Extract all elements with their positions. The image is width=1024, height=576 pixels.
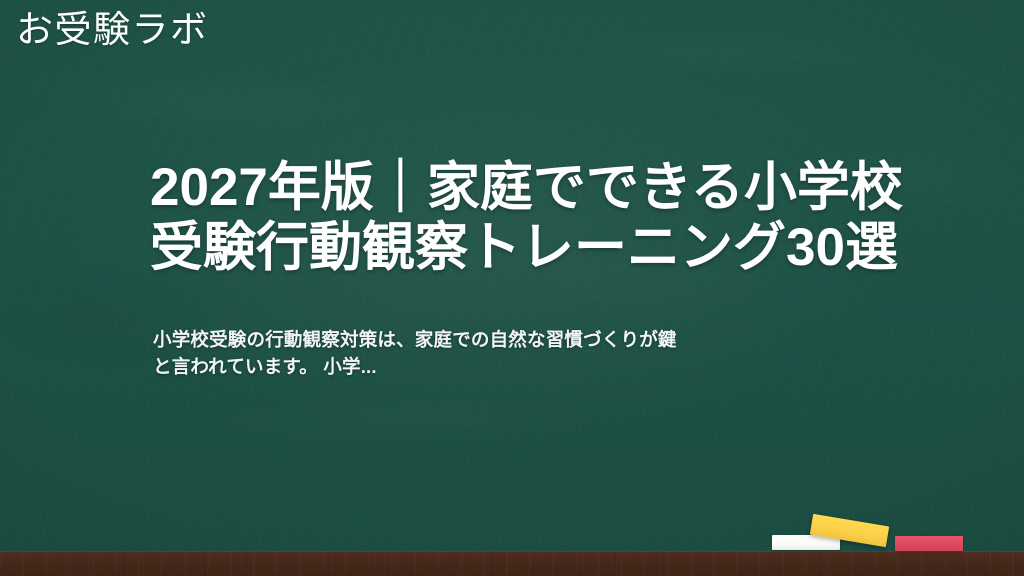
chalkboard-ledge xyxy=(0,551,1024,576)
thumbnail-canvas: お受験ラボ 2027年版｜家庭でできる小学校受験行動観察トレーニング30選 小学… xyxy=(0,0,1024,576)
wood-grain-texture xyxy=(0,551,1024,576)
red-chalk-icon xyxy=(895,536,963,551)
page-title: 2027年版｜家庭でできる小学校受験行動観察トレーニング30選 xyxy=(150,158,910,278)
page-subtitle: 小学校受験の行動観察対策は、家庭での自然な習慣づくりが鍵と言われています。 小学… xyxy=(150,278,693,380)
site-logo: お受験ラボ xyxy=(16,8,209,52)
text-block: 2027年版｜家庭でできる小学校受験行動観察トレーニング30選 小学校受験の行動… xyxy=(150,158,910,380)
